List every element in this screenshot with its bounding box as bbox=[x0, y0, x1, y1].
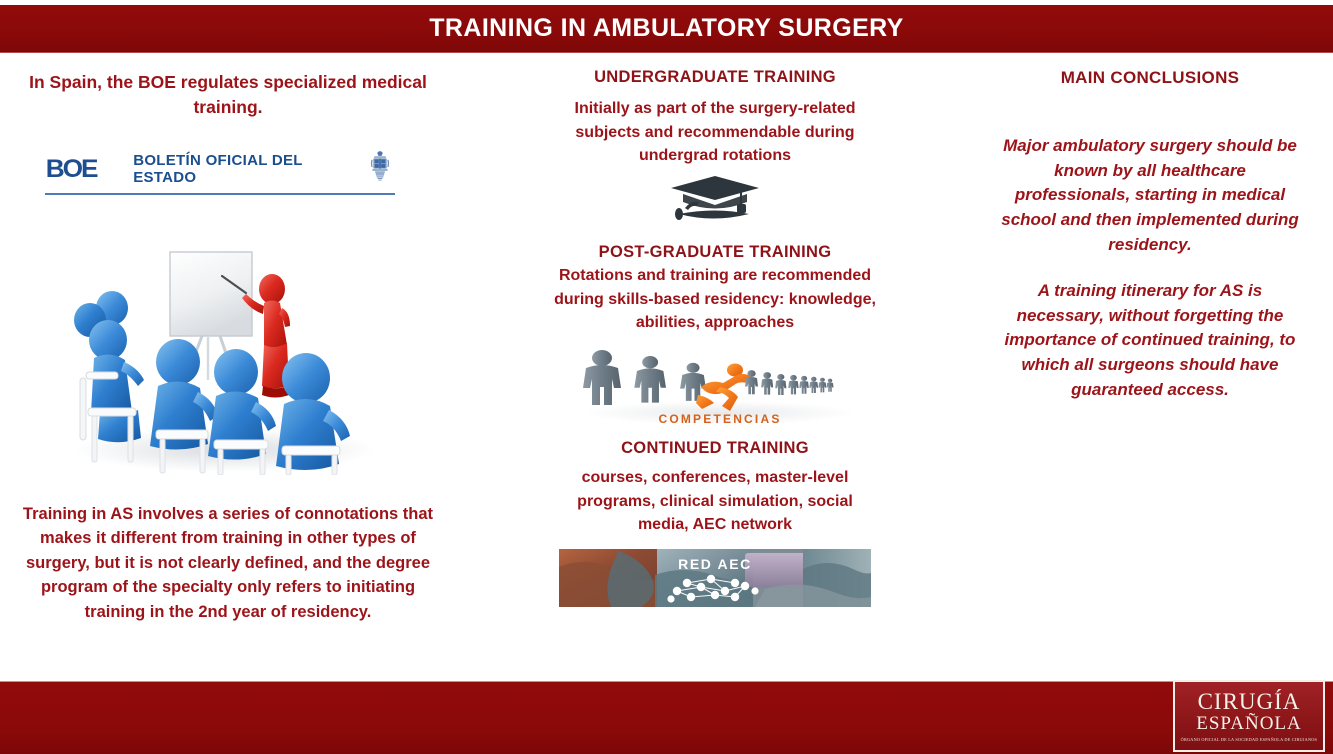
section-text-continued: courses, conferences, master-level progr… bbox=[550, 466, 880, 537]
section-postgraduate-training: POST-GRADUATE TRAINING Rotations and tra… bbox=[470, 243, 960, 431]
section-text-postgraduate: Rotations and training are recommended d… bbox=[540, 264, 890, 335]
classroom-training-illustration bbox=[50, 250, 392, 475]
section-heading-postgraduate: POST-GRADUATE TRAINING bbox=[470, 243, 960, 262]
journal-logo-subtitle: ÓRGANO OFICIAL DE LA SOCIEDAD ESPAÑOLA D… bbox=[1181, 737, 1317, 742]
poster-header-bar: TRAINING IN AMBULATORY SURGERY bbox=[0, 5, 1333, 52]
boe-logo-title: BOLETÍN OFICIAL DEL ESTADO bbox=[133, 152, 369, 186]
journal-logo-line2: ESPAÑOLA bbox=[1196, 714, 1302, 734]
middle-column: UNDERGRADUATE TRAINING Initially as part… bbox=[470, 62, 960, 607]
boe-logo: BOE BOLETÍN OFICIAL DEL ESTADO bbox=[45, 145, 395, 195]
section-heading-continued: CONTINUED TRAINING bbox=[470, 439, 960, 458]
left-paragraph-block: Training in AS involves a series of conn… bbox=[10, 492, 446, 624]
left-paragraph-text: Training in AS involves a series of conn… bbox=[10, 502, 446, 624]
right-column: MAIN CONCLUSIONS Major ambulatory surger… bbox=[975, 62, 1325, 402]
red-aec-banner-image: RED AEC bbox=[559, 549, 871, 607]
spacer bbox=[975, 257, 1325, 279]
section-heading-undergraduate: UNDERGRADUATE TRAINING bbox=[470, 68, 960, 87]
left-lead-text: In Spain, the BOE regulates specialized … bbox=[8, 70, 448, 120]
red-aec-caption: RED AEC bbox=[678, 556, 752, 572]
competencias-caption: COMPETENCIAS bbox=[658, 412, 781, 426]
boe-mark-icon: BOE bbox=[46, 157, 97, 182]
conclusion-text-1: Major ambulatory surgery should be known… bbox=[1000, 134, 1300, 257]
journal-logo-line1: CIRUGÍA bbox=[1198, 690, 1301, 713]
section-text-undergraduate: Initially as part of the surgery-related… bbox=[540, 97, 890, 168]
spacer bbox=[975, 88, 1325, 134]
main-conclusions-heading: MAIN CONCLUSIONS bbox=[975, 68, 1325, 88]
page-title: TRAINING IN AMBULATORY SURGERY bbox=[429, 14, 904, 43]
section-undergraduate-training: UNDERGRADUATE TRAINING Initially as part… bbox=[470, 68, 960, 231]
graduation-cap-diploma-icon bbox=[470, 174, 960, 231]
cirugia-espanola-logo: CIRUGÍA ESPAÑOLA ÓRGANO OFICIAL DE LA SO… bbox=[1173, 680, 1325, 752]
left-column: In Spain, the BOE regulates specialized … bbox=[8, 62, 448, 120]
poster-footer-bar bbox=[0, 682, 1333, 754]
competencias-figures-image: COMPETENCIAS bbox=[570, 343, 860, 431]
spain-coat-of-arms-icon bbox=[369, 150, 391, 189]
conclusion-text-2: A training itinerary for AS is necessary… bbox=[995, 279, 1305, 402]
section-continued-training: CONTINUED TRAINING courses, conferences,… bbox=[470, 439, 960, 607]
